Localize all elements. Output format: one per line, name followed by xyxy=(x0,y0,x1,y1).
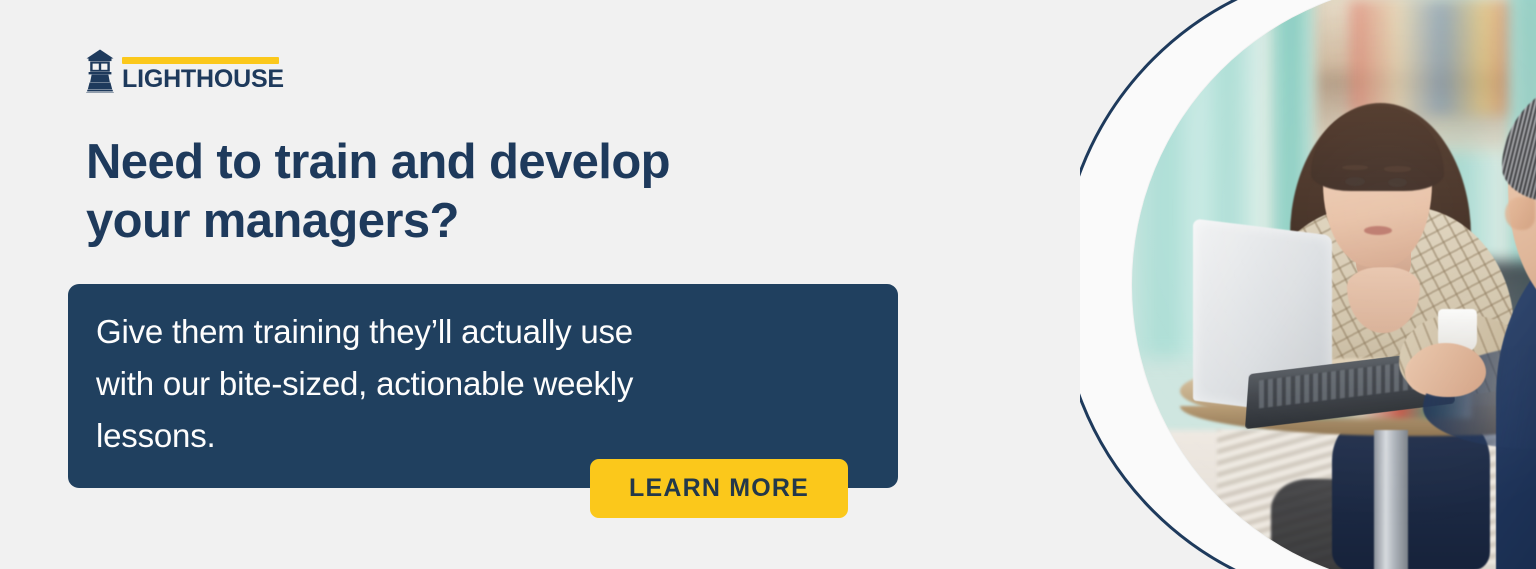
headline-line-1: Need to train and develop xyxy=(86,133,846,192)
brand-wordmark-group: LIGHTHOUSE xyxy=(122,57,284,93)
message-card: Give them training they’ll actually use … xyxy=(68,284,898,488)
page-title: Need to train and develop your managers? xyxy=(86,133,846,251)
copy-line-2: with our bite-sized, actionable weekly xyxy=(96,358,836,410)
learn-more-button[interactable]: LEARN MORE xyxy=(590,459,848,518)
learn-more-label: LEARN MORE xyxy=(629,474,809,503)
brand-logo[interactable]: LIGHTHOUSE xyxy=(82,49,284,93)
hero-photo xyxy=(1132,0,1536,569)
message-text: Give them training they’ll actually use … xyxy=(96,306,836,462)
banner-content: LIGHTHOUSE Need to train and develop you… xyxy=(0,0,1080,569)
banner-media xyxy=(1080,0,1536,569)
promo-banner: LIGHTHOUSE Need to train and develop you… xyxy=(0,0,1536,569)
copy-line-3: lessons. xyxy=(96,410,836,462)
brand-rule xyxy=(122,57,279,64)
lighthouse-icon xyxy=(82,49,118,93)
copy-line-1: Give them training they’ll actually use xyxy=(96,306,836,358)
brand-wordmark: LIGHTHOUSE xyxy=(122,67,284,92)
hero-photo-image xyxy=(1132,0,1536,569)
headline-line-2: your managers? xyxy=(86,192,846,251)
